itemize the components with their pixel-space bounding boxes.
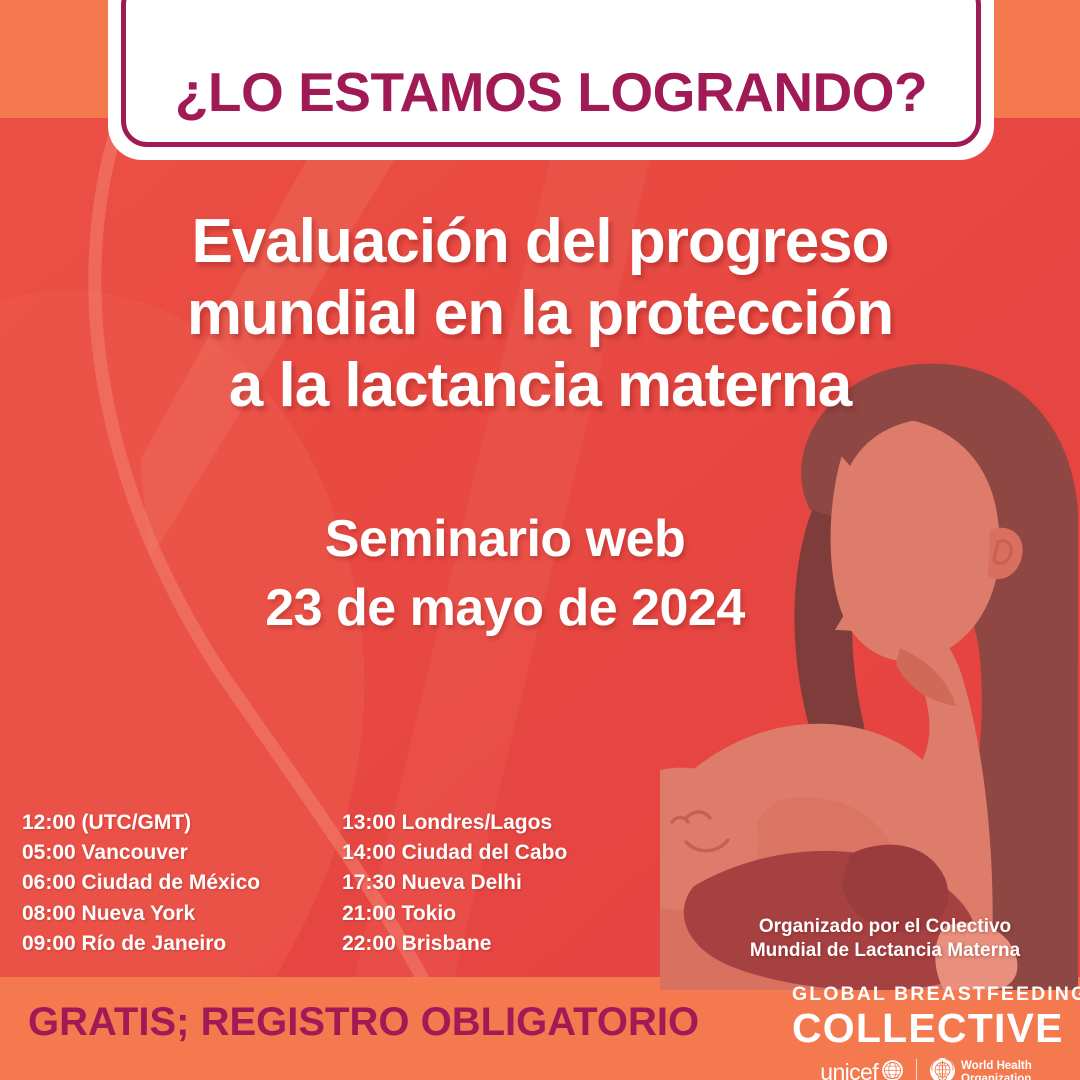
logo-line-collective: COLLECTIVE bbox=[792, 1007, 1060, 1050]
organizer-line-2: Mundial de Lactancia Materna bbox=[720, 939, 1050, 963]
unicef-wordmark: unicef bbox=[820, 1061, 878, 1080]
timezone-column-1: 12:00 (UTC/GMT) 05:00 Vancouver 06:00 Ci… bbox=[22, 808, 260, 959]
who-wordmark: World Health Organization bbox=[961, 1060, 1032, 1080]
partner-divider bbox=[916, 1059, 917, 1080]
partner-logos: unicef bbox=[792, 1057, 1060, 1080]
unicef-globe-icon bbox=[881, 1059, 904, 1080]
unicef-logo: unicef bbox=[820, 1059, 904, 1080]
webinar-date: 23 de mayo de 2024 bbox=[0, 574, 1010, 643]
global-breastfeeding-collective-logo: GLOBAL BREASTFEEDING COLLECTIVE unicef bbox=[792, 985, 1060, 1080]
webinar-label: Seminario web bbox=[0, 505, 1010, 574]
list-item: 12:00 (UTC/GMT) bbox=[22, 808, 260, 838]
list-item: 09:00 Río de Janeiro bbox=[22, 929, 260, 959]
registration-note: GRATIS; REGISTRO OBLIGATORIO bbox=[28, 1000, 699, 1045]
list-item: 05:00 Vancouver bbox=[22, 838, 260, 868]
list-item: 22:00 Brisbane bbox=[342, 929, 567, 959]
who-line-2: Organization bbox=[961, 1073, 1032, 1080]
who-logo: World Health Organization bbox=[929, 1057, 1032, 1080]
timezone-column-2: 13:00 Londres/Lagos 14:00 Ciudad del Cab… bbox=[342, 808, 567, 959]
header-banner-card: ¿LO ESTAMOS LOGRANDO? bbox=[108, 0, 994, 160]
timezone-list: 12:00 (UTC/GMT) 05:00 Vancouver 06:00 Ci… bbox=[22, 808, 567, 959]
logo-line-global-breastfeeding: GLOBAL BREASTFEEDING bbox=[792, 985, 1060, 1005]
poster-canvas: Evaluación del progreso mundial en la pr… bbox=[0, 0, 1080, 1080]
list-item: 13:00 Londres/Lagos bbox=[342, 808, 567, 838]
who-emblem-icon bbox=[929, 1057, 956, 1080]
list-item: 21:00 Tokio bbox=[342, 899, 567, 929]
list-item: 06:00 Ciudad de México bbox=[22, 868, 260, 898]
list-item: 17:30 Nueva Delhi bbox=[342, 868, 567, 898]
list-item: 08:00 Nueva York bbox=[22, 899, 260, 929]
header-title: ¿LO ESTAMOS LOGRANDO? bbox=[175, 65, 927, 142]
mother-and-baby-illustration bbox=[660, 330, 1080, 990]
list-item: 14:00 Ciudad del Cabo bbox=[342, 838, 567, 868]
webinar-date-block: Seminario web 23 de mayo de 2024 bbox=[0, 505, 1010, 642]
organizer-credit: Organizado por el Colectivo Mundial de L… bbox=[720, 915, 1050, 963]
who-line-1: World Health bbox=[961, 1060, 1032, 1073]
organizer-line-1: Organizado por el Colectivo bbox=[720, 915, 1050, 939]
header-banner-frame: ¿LO ESTAMOS LOGRANDO? bbox=[121, 0, 981, 147]
